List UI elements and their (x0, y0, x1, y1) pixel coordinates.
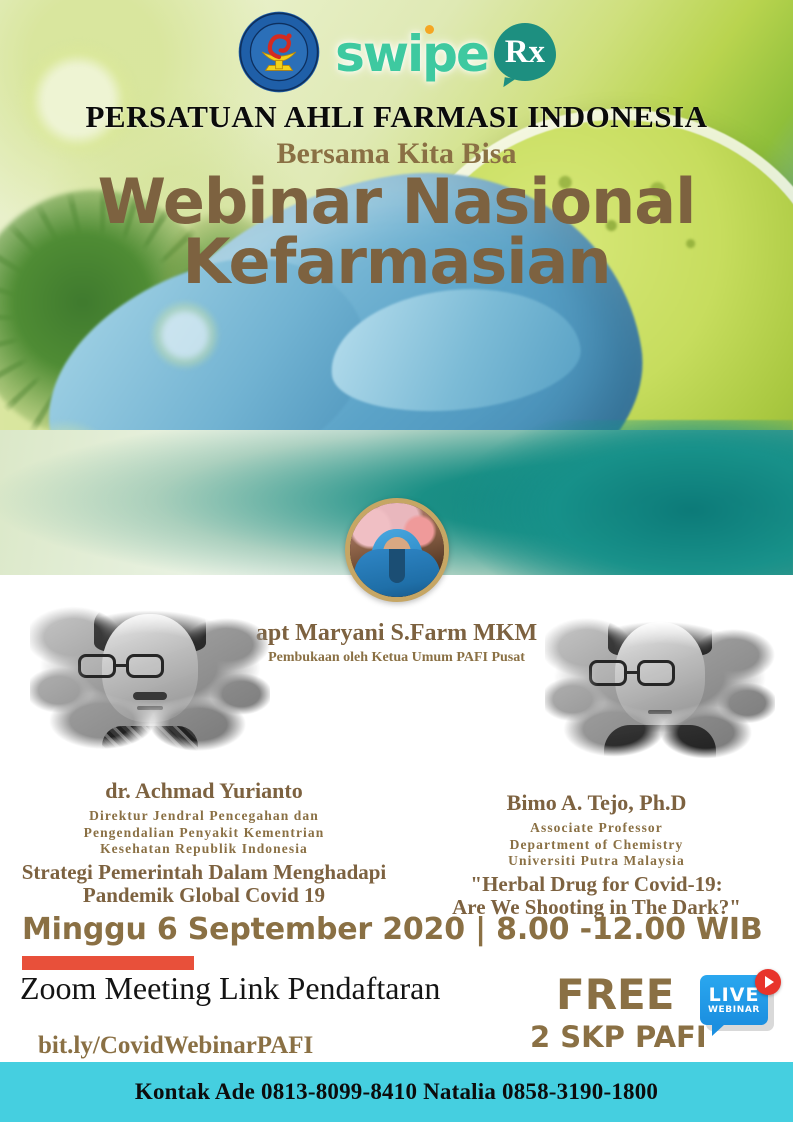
glasses-bridge-icon (627, 671, 637, 674)
title-line-2: Kefarmasian (0, 232, 793, 292)
badge-live-label: LIVE (709, 986, 760, 1005)
glasses-bridge-icon (116, 664, 126, 667)
topic-line-2: Pandemik Global Covid 19 (0, 884, 414, 907)
page-title: Webinar Nasional Kefarmasian (0, 172, 793, 292)
affiliation-line-3: Universiti Putra Malaysia (400, 853, 793, 869)
affiliation-line-2: Department of Chemistry (400, 837, 793, 853)
speaker-name: Bimo A. Tejo, Ph.D (400, 790, 793, 815)
bokeh-circle-icon (150, 300, 220, 370)
affiliation-line-2: Pengendalian Penyakit Kementrian (0, 825, 414, 841)
moustache-graphic (133, 692, 167, 700)
pafi-logo-icon (237, 10, 321, 94)
speaker-photo-bimo-tejo (545, 592, 775, 777)
affiliation-line-3: Kesehatan Republik Indonesia (0, 841, 414, 857)
affiliation-line-1: Associate Professor (400, 820, 793, 836)
glasses-left-lens-icon (589, 660, 627, 686)
glasses-right-lens-icon (637, 660, 675, 686)
affiliation-line-1: Direktur Jendral Pencegahan dan (0, 808, 414, 824)
topic-line-1: Strategi Pemerintah Dalam Menghadapi (0, 861, 414, 884)
speaker-topic: Strategi Pemerintah Dalam Menghadapi Pan… (0, 861, 414, 907)
swiperx-logo: swipe Rx (335, 23, 556, 81)
batik-shirt-graphic (102, 726, 198, 770)
webinar-poster: swipe Rx PERSATUAN AHLI FARMASI INDONESI… (0, 0, 793, 1122)
speaker-info-right: Bimo A. Tejo, Ph.D Associate Professor D… (400, 790, 793, 919)
contact-footer: Kontak Ade 0813-8099-8410 Natalia 0858-3… (0, 1062, 793, 1122)
live-webinar-badge: LIVE WEBINAR (700, 975, 778, 1043)
host-blazer-graphic (354, 549, 440, 597)
speaker-affiliation: Direktur Jendral Pencegahan dan Pengenda… (0, 808, 414, 857)
red-accent-bar (22, 956, 194, 970)
portrait-canvas (545, 592, 775, 777)
portrait-canvas (30, 580, 270, 770)
glasses-right-lens-icon (126, 654, 164, 678)
contact-text: Kontak Ade 0813-8099-8410 Natalia 0858-3… (135, 1079, 658, 1105)
logo-row: swipe Rx (0, 8, 793, 96)
speaker-name: dr. Achmad Yurianto (0, 778, 414, 803)
glasses-left-lens-icon (78, 654, 116, 678)
rx-bubble-icon: Rx (494, 23, 556, 81)
speaker-affiliation: Associate Professor Department of Chemis… (400, 820, 793, 869)
registration-link[interactable]: bit.ly/CovidWebinarPAFI (38, 1032, 313, 1060)
swipe-wordmark: swipe (335, 25, 488, 83)
speaker-info-left: dr. Achmad Yurianto Direktur Jendral Pen… (0, 778, 414, 907)
event-date-time: Minggu 6 September 2020 | 8.00 -12.00 WI… (22, 912, 763, 947)
credits-label: 2 SKP PAFI (530, 1020, 707, 1054)
title-block: PERSATUAN AHLI FARMASI INDONESIA Bersama… (0, 100, 793, 292)
price-label: FREE (556, 970, 674, 1019)
host-avatar (345, 498, 449, 602)
mouth-graphic (648, 710, 672, 714)
badge-webinar-label: WEBINAR (708, 1006, 760, 1015)
rx-label: Rx (505, 36, 545, 69)
play-button-icon (755, 969, 781, 995)
topic-line-1: "Herbal Drug for Covid-19: (400, 873, 793, 896)
mouth-graphic (137, 706, 163, 710)
speaker-photo-achmad-yurianto (30, 580, 270, 770)
organization-name: PERSATUAN AHLI FARMASI INDONESIA (0, 100, 793, 134)
platform-registration-label: Zoom Meeting Link Pendaftaran (20, 970, 440, 1007)
